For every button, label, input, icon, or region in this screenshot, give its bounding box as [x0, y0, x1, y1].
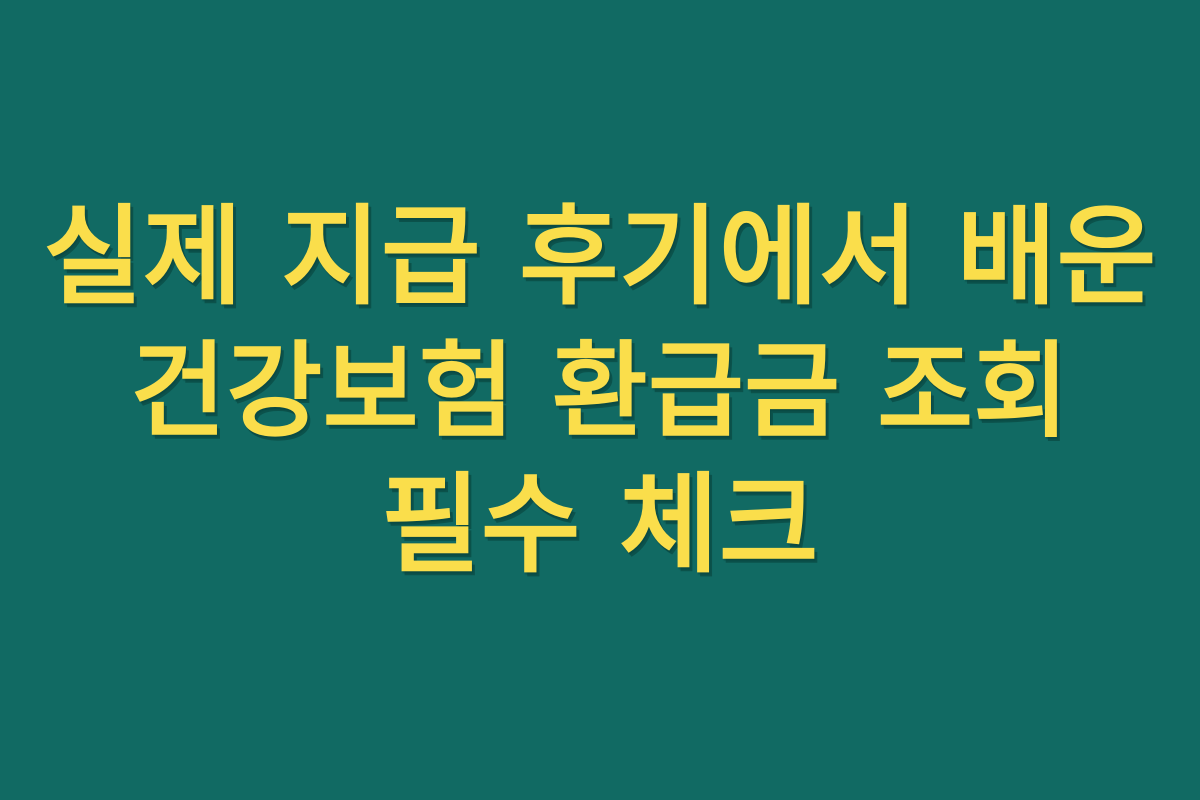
thumbnail-card: 실제 지급 후기에서 배운 건강보험 환급금 조회 필수 체크 — [0, 0, 1200, 800]
headline-line-2: 건강보험 환급금 조회 — [40, 326, 1160, 457]
headline-line-3: 필수 체크 — [40, 458, 1160, 594]
headline-block: 실제 지급 후기에서 배운 건강보험 환급금 조회 필수 체크 — [0, 190, 1200, 593]
headline-line-1: 실제 지급 후기에서 배운 — [40, 190, 1160, 326]
